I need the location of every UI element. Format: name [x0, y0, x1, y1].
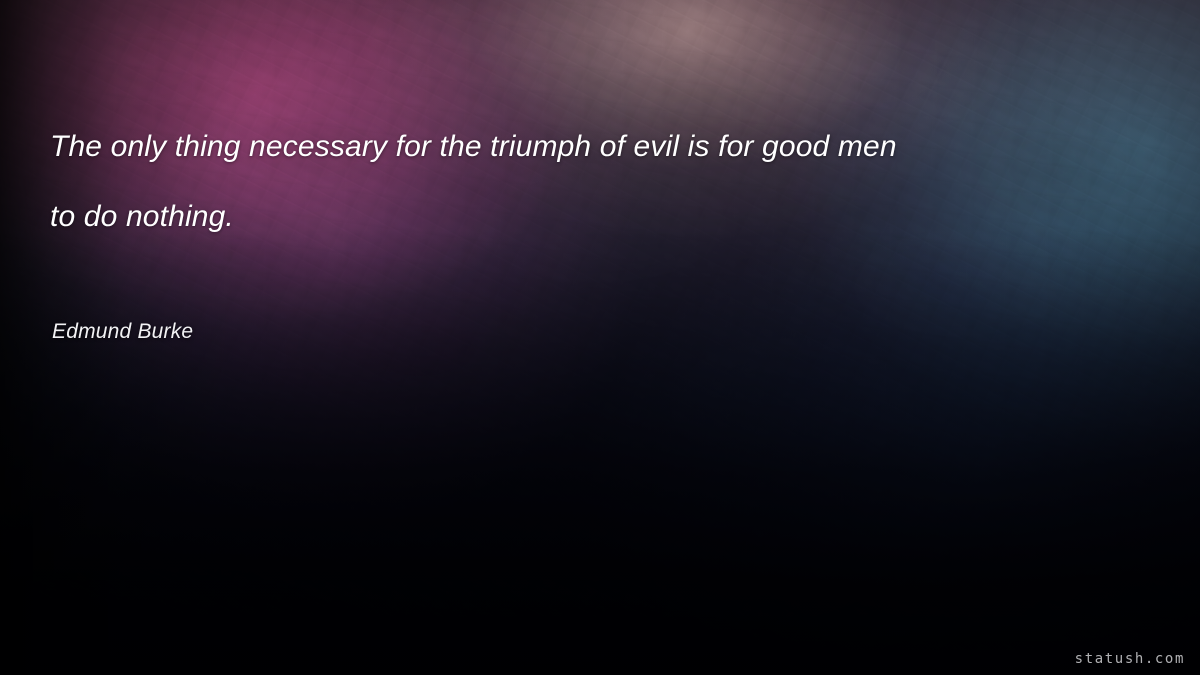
- site-watermark: statush.com: [1075, 651, 1185, 667]
- quote-text: The only thing necessary for the triumph…: [50, 112, 930, 252]
- quote-author: Edmund Burke: [52, 320, 193, 344]
- quote-card: The only thing necessary for the triumph…: [0, 0, 1200, 675]
- quote-content: The only thing necessary for the triumph…: [0, 0, 1200, 675]
